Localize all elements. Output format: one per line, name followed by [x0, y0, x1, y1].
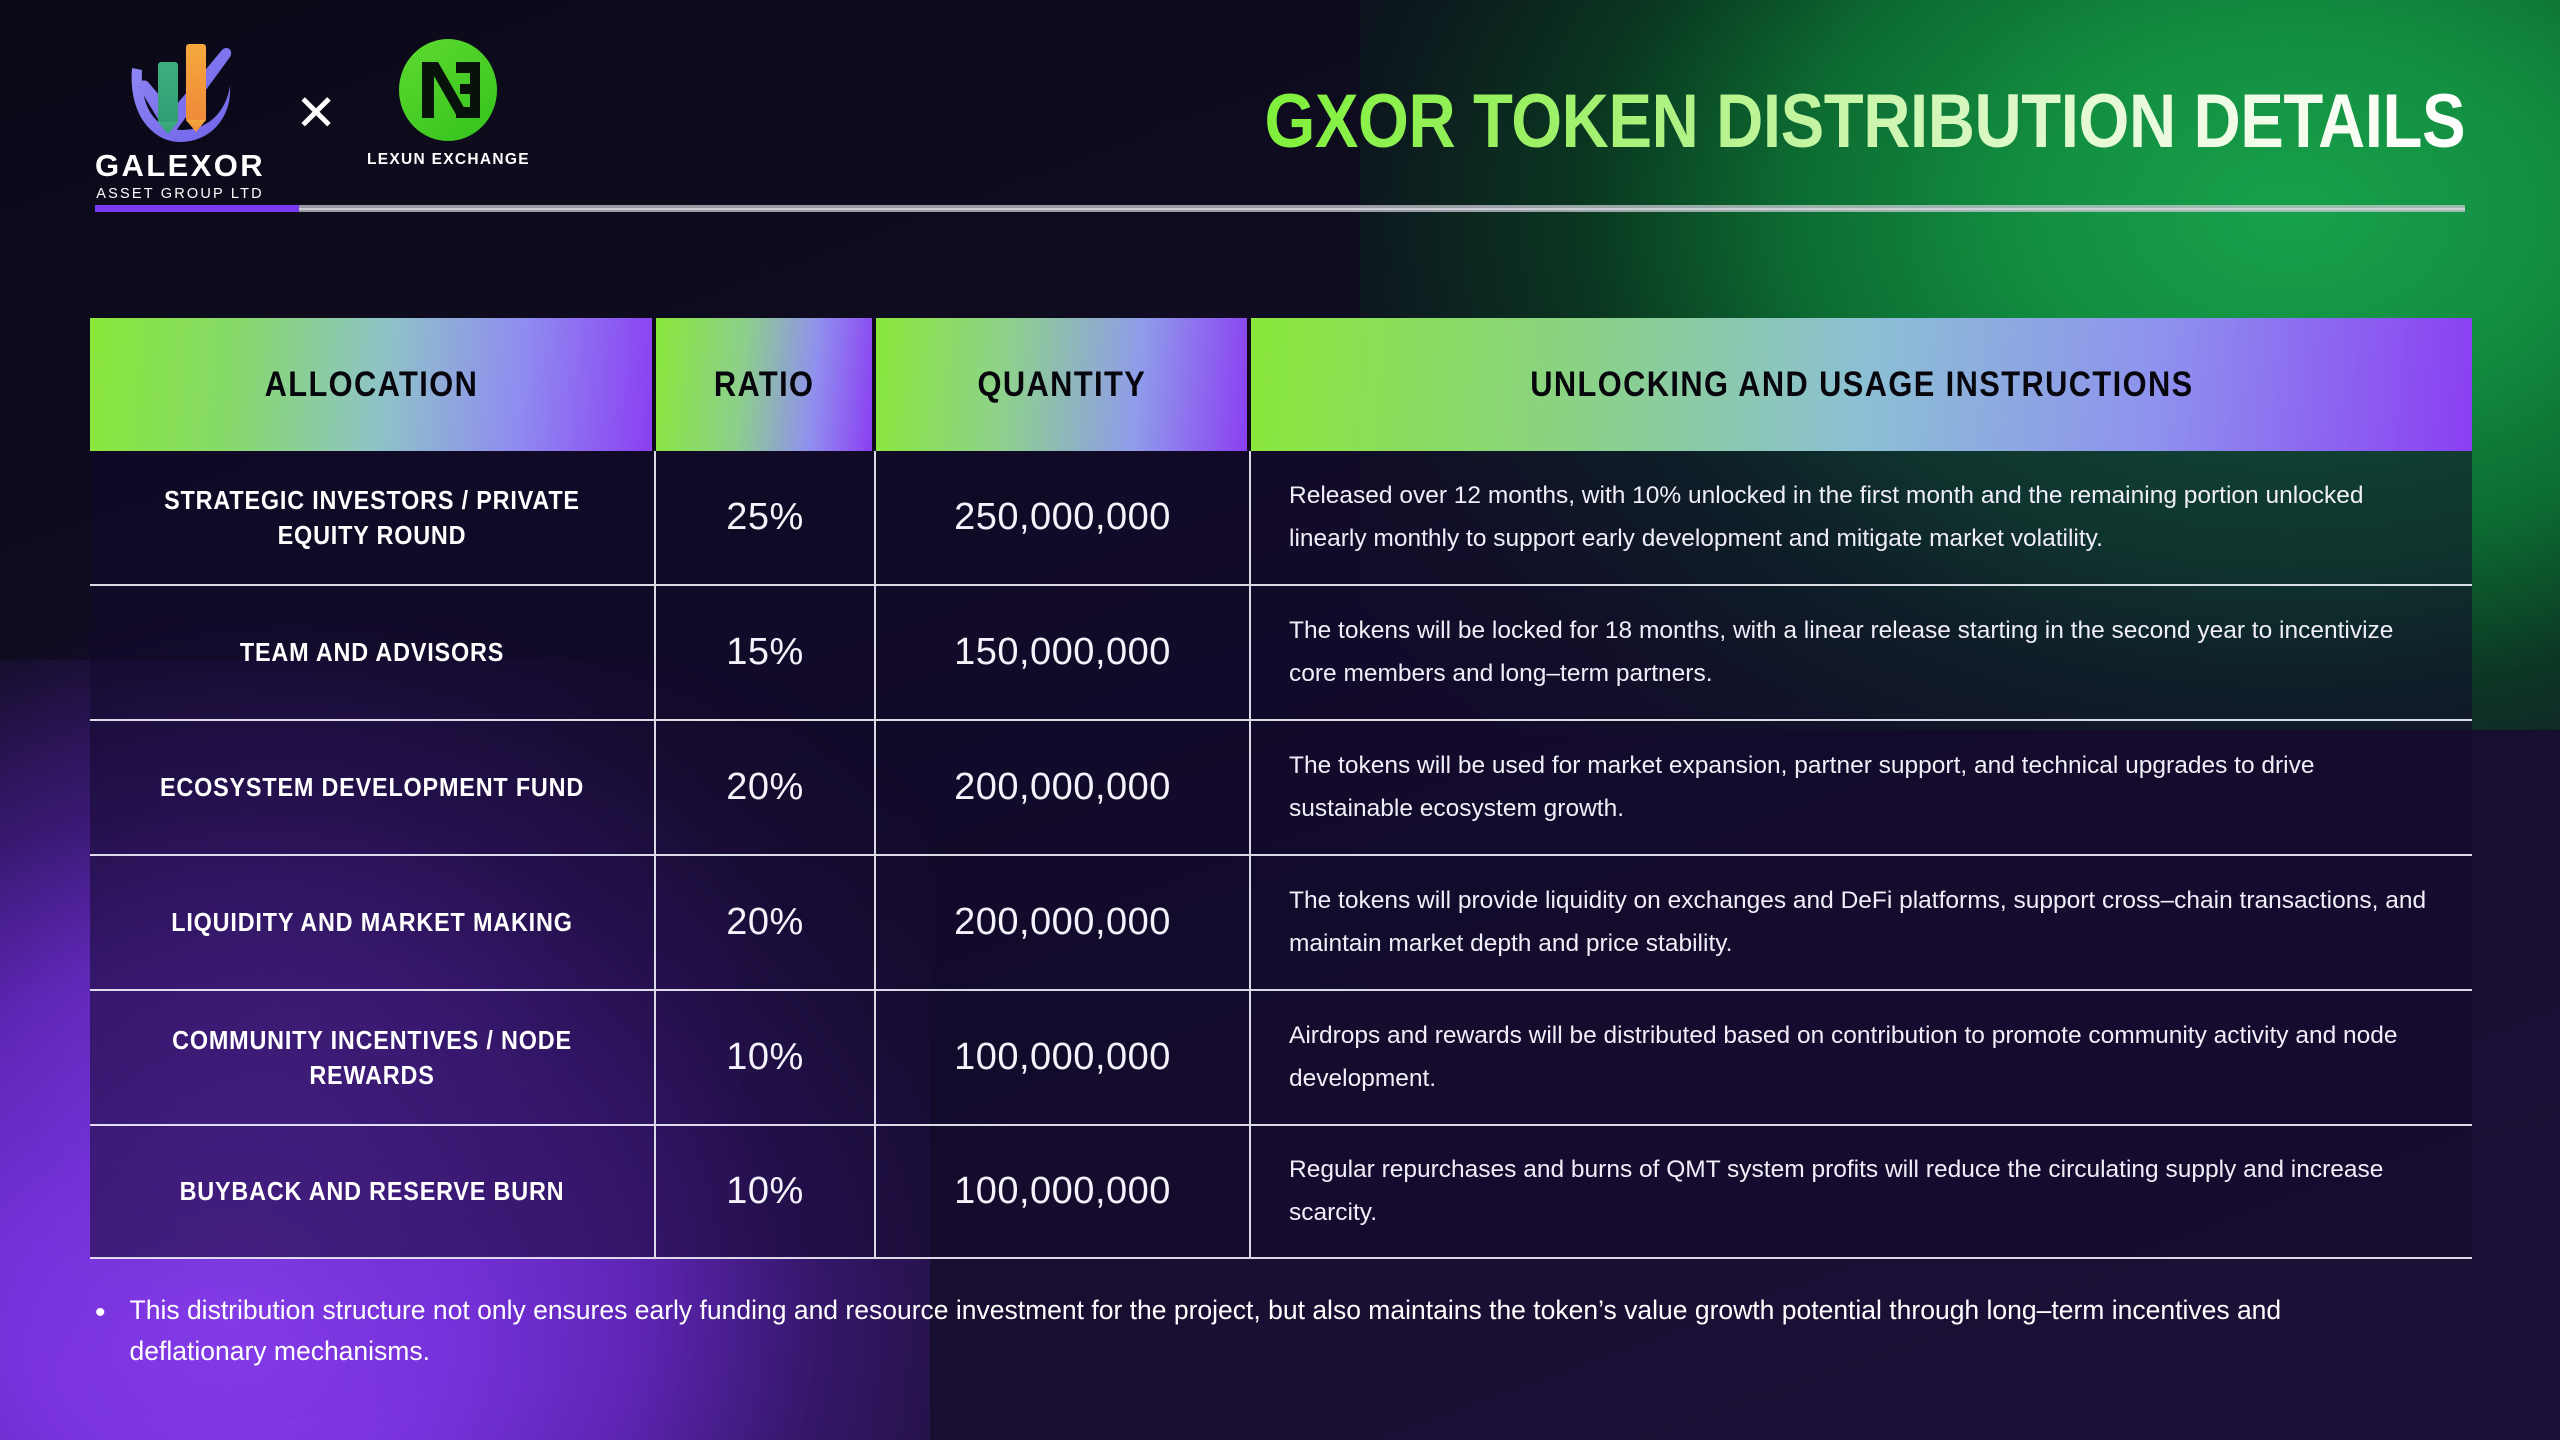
- quantity-value: 250,000,000: [876, 496, 1249, 539]
- column-header-allocation: ALLOCATION: [90, 318, 656, 451]
- allocation-label: TEAM AND ADVISORS: [118, 635, 626, 669]
- cell-allocation: LIQUIDITY AND MARKET MAKING: [90, 856, 656, 989]
- cell-description: The tokens will be used for market expan…: [1251, 721, 2472, 854]
- galexor-logo: GALEXOR ASSET GROUP LTD: [95, 30, 265, 202]
- column-header-instructions: UNLOCKING AND USAGE INSTRUCTIONS: [1251, 318, 2472, 451]
- footnote: • This distribution structure not only e…: [95, 1290, 2425, 1372]
- header-divider: [95, 205, 2465, 212]
- cell-ratio: 25%: [656, 451, 876, 584]
- ratio-value: 10%: [656, 1170, 874, 1213]
- table-row: ECOSYSTEM DEVELOPMENT FUND 20% 200,000,0…: [90, 719, 2472, 854]
- cell-allocation: ECOSYSTEM DEVELOPMENT FUND: [90, 721, 656, 854]
- cell-quantity: 250,000,000: [876, 451, 1251, 584]
- bullet-icon: •: [95, 1290, 106, 1335]
- lexun-wordmark: LEXUN EXCHANGE: [367, 151, 530, 169]
- table-row: LIQUIDITY AND MARKET MAKING 20% 200,000,…: [90, 854, 2472, 989]
- description-text: The tokens will be locked for 18 months,…: [1251, 610, 2472, 694]
- cross-icon: ✕: [295, 88, 337, 138]
- allocation-label: BUYBACK AND RESERVE BURN: [118, 1174, 626, 1208]
- cell-quantity: 200,000,000: [876, 721, 1251, 854]
- quantity-value: 200,000,000: [876, 766, 1249, 809]
- table-body: STRATEGIC INVESTORS / PRIVATE EQUITY ROU…: [90, 451, 2472, 1259]
- table-row: BUYBACK AND RESERVE BURN 10% 100,000,000…: [90, 1124, 2472, 1259]
- allocation-label: ECOSYSTEM DEVELOPMENT FUND: [118, 770, 626, 804]
- description-text: Airdrops and rewards will be distributed…: [1251, 1015, 2472, 1099]
- cell-description: Airdrops and rewards will be distributed…: [1251, 991, 2472, 1124]
- cell-quantity: 200,000,000: [876, 856, 1251, 989]
- description-text: The tokens will provide liquidity on exc…: [1251, 880, 2472, 964]
- cell-quantity: 150,000,000: [876, 586, 1251, 719]
- cell-allocation: BUYBACK AND RESERVE BURN: [90, 1126, 656, 1259]
- lexun-logo: LEXUN EXCHANGE: [367, 38, 530, 169]
- cell-description: The tokens will provide liquidity on exc…: [1251, 856, 2472, 989]
- cell-quantity: 100,000,000: [876, 1126, 1251, 1259]
- cell-allocation: TEAM AND ADVISORS: [90, 586, 656, 719]
- cell-ratio: 10%: [656, 991, 876, 1124]
- cell-quantity: 100,000,000: [876, 991, 1251, 1124]
- table-row: COMMUNITY INCENTIVES / NODE REWARDS 10% …: [90, 989, 2472, 1124]
- quantity-value: 100,000,000: [876, 1036, 1249, 1079]
- description-text: Regular repurchases and burns of QMT sys…: [1251, 1149, 2472, 1233]
- quantity-value: 100,000,000: [876, 1170, 1249, 1213]
- cell-ratio: 10%: [656, 1126, 876, 1259]
- logo-lockup: GALEXOR ASSET GROUP LTD ✕: [95, 30, 530, 202]
- cell-allocation: STRATEGIC INVESTORS / PRIVATE EQUITY ROU…: [90, 451, 656, 584]
- lexun-circle-icon: [396, 38, 500, 142]
- cell-ratio: 20%: [656, 721, 876, 854]
- column-header-instructions-label: UNLOCKING AND USAGE INSTRUCTIONS: [1530, 365, 2193, 405]
- galexor-wordmark: GALEXOR: [95, 150, 265, 181]
- slide-header: GALEXOR ASSET GROUP LTD ✕: [0, 0, 2560, 230]
- description-text: The tokens will be used for market expan…: [1251, 745, 2472, 829]
- cell-description: Regular repurchases and burns of QMT sys…: [1251, 1126, 2472, 1259]
- ratio-value: 20%: [656, 766, 874, 809]
- cell-ratio: 15%: [656, 586, 876, 719]
- ratio-value: 15%: [656, 631, 874, 674]
- cell-description: The tokens will be locked for 18 months,…: [1251, 586, 2472, 719]
- ratio-value: 20%: [656, 901, 874, 944]
- ratio-value: 25%: [656, 496, 874, 539]
- allocation-label: COMMUNITY INCENTIVES / NODE REWARDS: [118, 1023, 626, 1092]
- column-header-allocation-label: ALLOCATION: [264, 365, 478, 405]
- slide-root: GALEXOR ASSET GROUP LTD ✕: [0, 0, 2560, 1440]
- allocation-label: STRATEGIC INVESTORS / PRIVATE EQUITY ROU…: [118, 483, 626, 552]
- cell-allocation: COMMUNITY INCENTIVES / NODE REWARDS: [90, 991, 656, 1124]
- ratio-value: 10%: [656, 1036, 874, 1079]
- footnote-text: This distribution structure not only ens…: [130, 1290, 2425, 1372]
- description-text: Released over 12 months, with 10% unlock…: [1251, 475, 2472, 559]
- column-header-quantity-label: QUANTITY: [977, 365, 1146, 405]
- galexor-tagline: ASSET GROUP LTD: [96, 186, 264, 202]
- quantity-value: 150,000,000: [876, 631, 1249, 674]
- allocation-label: LIQUIDITY AND MARKET MAKING: [118, 905, 626, 939]
- column-header-ratio: RATIO: [656, 318, 876, 451]
- cell-description: Released over 12 months, with 10% unlock…: [1251, 451, 2472, 584]
- quantity-value: 200,000,000: [876, 901, 1249, 944]
- table-header-row: ALLOCATION RATIO QUANTITY UNLOCKING AND …: [90, 318, 2472, 451]
- distribution-table: ALLOCATION RATIO QUANTITY UNLOCKING AND …: [90, 318, 2472, 1259]
- galexor-chart-check-icon: [114, 30, 246, 148]
- table-row: STRATEGIC INVESTORS / PRIVATE EQUITY ROU…: [90, 451, 2472, 584]
- page-title: GXOR TOKEN DISTRIBUTION DETAILS: [1264, 84, 2465, 160]
- column-header-ratio-label: RATIO: [714, 365, 815, 405]
- cell-ratio: 20%: [656, 856, 876, 989]
- column-header-quantity: QUANTITY: [876, 318, 1251, 451]
- table-row: TEAM AND ADVISORS 15% 150,000,000 The to…: [90, 584, 2472, 719]
